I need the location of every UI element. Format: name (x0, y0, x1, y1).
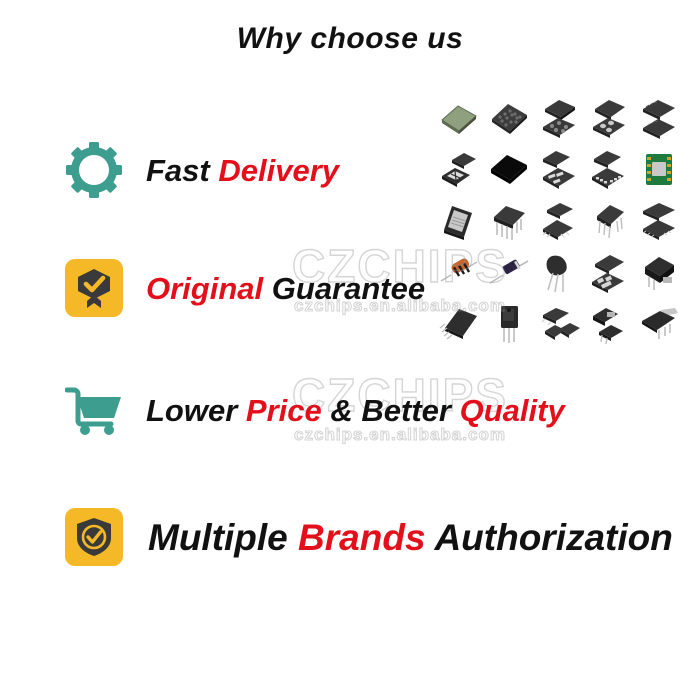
chip-axial-resistor (434, 247, 484, 299)
feature-segment: Lower (146, 393, 237, 428)
gear-icon-glyph (65, 141, 123, 199)
page-title: Why choose us (0, 22, 700, 56)
chip-ssop-shrink-pair (634, 195, 684, 247)
feature-segment-accent: Original (146, 271, 263, 306)
chip-lga-land-grid-pair (534, 92, 584, 144)
chip-sot-23-trio (534, 298, 584, 350)
chip-pqfp-black-flat (484, 144, 534, 196)
chip-bga-substrate-green (434, 92, 484, 144)
chip-bga-ball-grid-array (484, 92, 534, 144)
feature-label: Original Guarantee (146, 273, 425, 304)
chip-to-220-transistor (484, 298, 534, 350)
shopping-cart-icon-glyph (65, 384, 123, 436)
feature-segment: Authorization (434, 517, 672, 558)
feature-row-original-guarantee: Original Guarantee (62, 256, 425, 320)
shield-check-icon (62, 505, 126, 569)
feature-label: Multiple Brands Authorization (148, 519, 673, 556)
chip-dfn-power-pad-pair (584, 247, 634, 299)
chip-gallery (434, 92, 684, 350)
chip-qfp-stacked-pair (634, 92, 684, 144)
feature-row-lower-price: Lower Price & Better Quality (62, 378, 565, 442)
gear-icon (62, 138, 126, 202)
chip-axial-diode (484, 247, 534, 299)
chip-sot-223-wide (634, 298, 684, 350)
feature-segment: Multiple (148, 517, 288, 558)
feature-row-multiple-brands: Multiple Brands Authorization (62, 505, 673, 569)
chip-htssop-power-package (434, 298, 484, 350)
feature-segment-accent: Delivery (218, 153, 339, 188)
chip-pcb-module-green (634, 144, 684, 196)
chip-dip-ceramic-sidebraze (434, 195, 484, 247)
feature-segment: Fast (146, 153, 210, 188)
shopping-cart-icon (62, 378, 126, 442)
quality-badge-icon (62, 256, 126, 320)
feature-segment-accent: Brands (298, 517, 425, 558)
chip-to-92-transistor (534, 247, 584, 299)
chip-to-263-d2pak (634, 247, 684, 299)
chip-qfn-dual-pad-pair (584, 92, 634, 144)
feature-segment-accent: Price (246, 393, 322, 428)
chip-dip-8-gullwing (584, 195, 634, 247)
feature-row-fast-delivery: Fast Delivery (62, 138, 339, 202)
chip-sop-small-outline-pair (534, 195, 584, 247)
chip-dip-through-hole (484, 195, 534, 247)
feature-segment: Better (361, 393, 451, 428)
icon-tile-yellow (65, 259, 123, 317)
feature-segment-accent: Quality (460, 393, 565, 428)
shield-check-icon-glyph (74, 516, 114, 558)
feature-segment: Guarantee (272, 271, 425, 306)
chip-qfn-leadframe (584, 144, 634, 196)
feature-label: Fast Delivery (146, 155, 339, 186)
chip-socket-open-cavity (434, 144, 484, 196)
chip-soic-lead-pair (534, 144, 584, 196)
feature-segment: & (330, 393, 352, 428)
quality-badge-icon-glyph (74, 267, 114, 309)
icon-tile-yellow (65, 508, 123, 566)
chip-dpak-sot-223-pair (584, 298, 634, 350)
feature-label: Lower Price & Better Quality (146, 395, 565, 426)
promo-banner: Why choose us (0, 0, 700, 700)
